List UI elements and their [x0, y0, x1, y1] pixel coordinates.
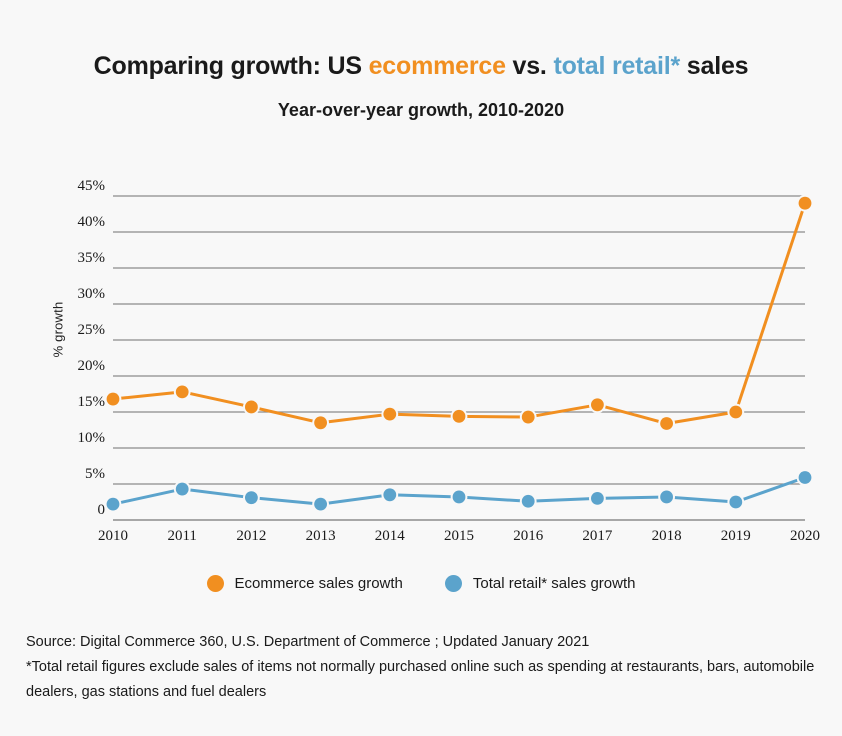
legend-swatch-icon	[207, 575, 224, 592]
x-axis-tick: 2018	[632, 528, 702, 545]
data-point[interactable]	[107, 498, 120, 511]
chart-legend: Ecommerce sales growthTotal retail* sale…	[0, 575, 842, 592]
x-axis-tick: 2012	[216, 528, 286, 545]
legend-swatch-icon	[445, 575, 462, 592]
data-point[interactable]	[660, 491, 673, 504]
data-point[interactable]	[176, 385, 189, 398]
data-point[interactable]	[453, 410, 466, 423]
data-point[interactable]	[245, 491, 258, 504]
x-axis-tick-labels: 2010201120122013201420152016201720182019…	[0, 528, 842, 552]
data-point[interactable]	[591, 398, 604, 411]
x-axis-tick: 2019	[701, 528, 771, 545]
data-point[interactable]	[176, 483, 189, 496]
data-point[interactable]	[383, 488, 396, 501]
series-line-1	[113, 203, 805, 423]
data-point[interactable]	[729, 406, 742, 419]
series-markers	[105, 195, 814, 513]
grid-lines	[113, 196, 805, 520]
x-axis-tick: 2020	[770, 528, 840, 545]
data-point[interactable]	[660, 417, 673, 430]
data-point[interactable]	[314, 498, 327, 511]
legend-label: Ecommerce sales growth	[235, 575, 403, 592]
data-point[interactable]	[729, 496, 742, 509]
legend-item-1[interactable]: Ecommerce sales growth	[207, 575, 403, 592]
chart-notes: Source: Digital Commerce 360, U.S. Depar…	[26, 630, 816, 705]
legend-label: Total retail* sales growth	[473, 575, 636, 592]
data-point[interactable]	[522, 495, 535, 508]
x-axis-tick: 2015	[424, 528, 494, 545]
data-point[interactable]	[453, 491, 466, 504]
series-lines	[113, 203, 805, 504]
x-axis-tick: 2017	[562, 528, 632, 545]
legend-item-2[interactable]: Total retail* sales growth	[445, 575, 636, 592]
x-axis-tick: 2013	[286, 528, 356, 545]
data-point[interactable]	[245, 401, 258, 414]
data-point[interactable]	[799, 197, 812, 210]
data-point[interactable]	[314, 416, 327, 429]
line-chart: % growth 45%40%35%30%25%20%15%10%5%0 201…	[0, 0, 842, 736]
data-point[interactable]	[799, 471, 812, 484]
chart-page: Comparing growth: US ecommerce vs. total…	[0, 0, 842, 736]
chart-plot-area	[0, 0, 842, 736]
x-axis-tick: 2010	[78, 528, 148, 545]
source-note: Source: Digital Commerce 360, U.S. Depar…	[26, 630, 816, 655]
footnote-note: *Total retail figures exclude sales of i…	[26, 655, 816, 705]
x-axis-tick: 2016	[493, 528, 563, 545]
data-point[interactable]	[107, 393, 120, 406]
data-point[interactable]	[591, 492, 604, 505]
x-axis-tick: 2011	[147, 528, 217, 545]
data-point[interactable]	[383, 408, 396, 421]
data-point[interactable]	[522, 411, 535, 424]
x-axis-tick: 2014	[355, 528, 425, 545]
